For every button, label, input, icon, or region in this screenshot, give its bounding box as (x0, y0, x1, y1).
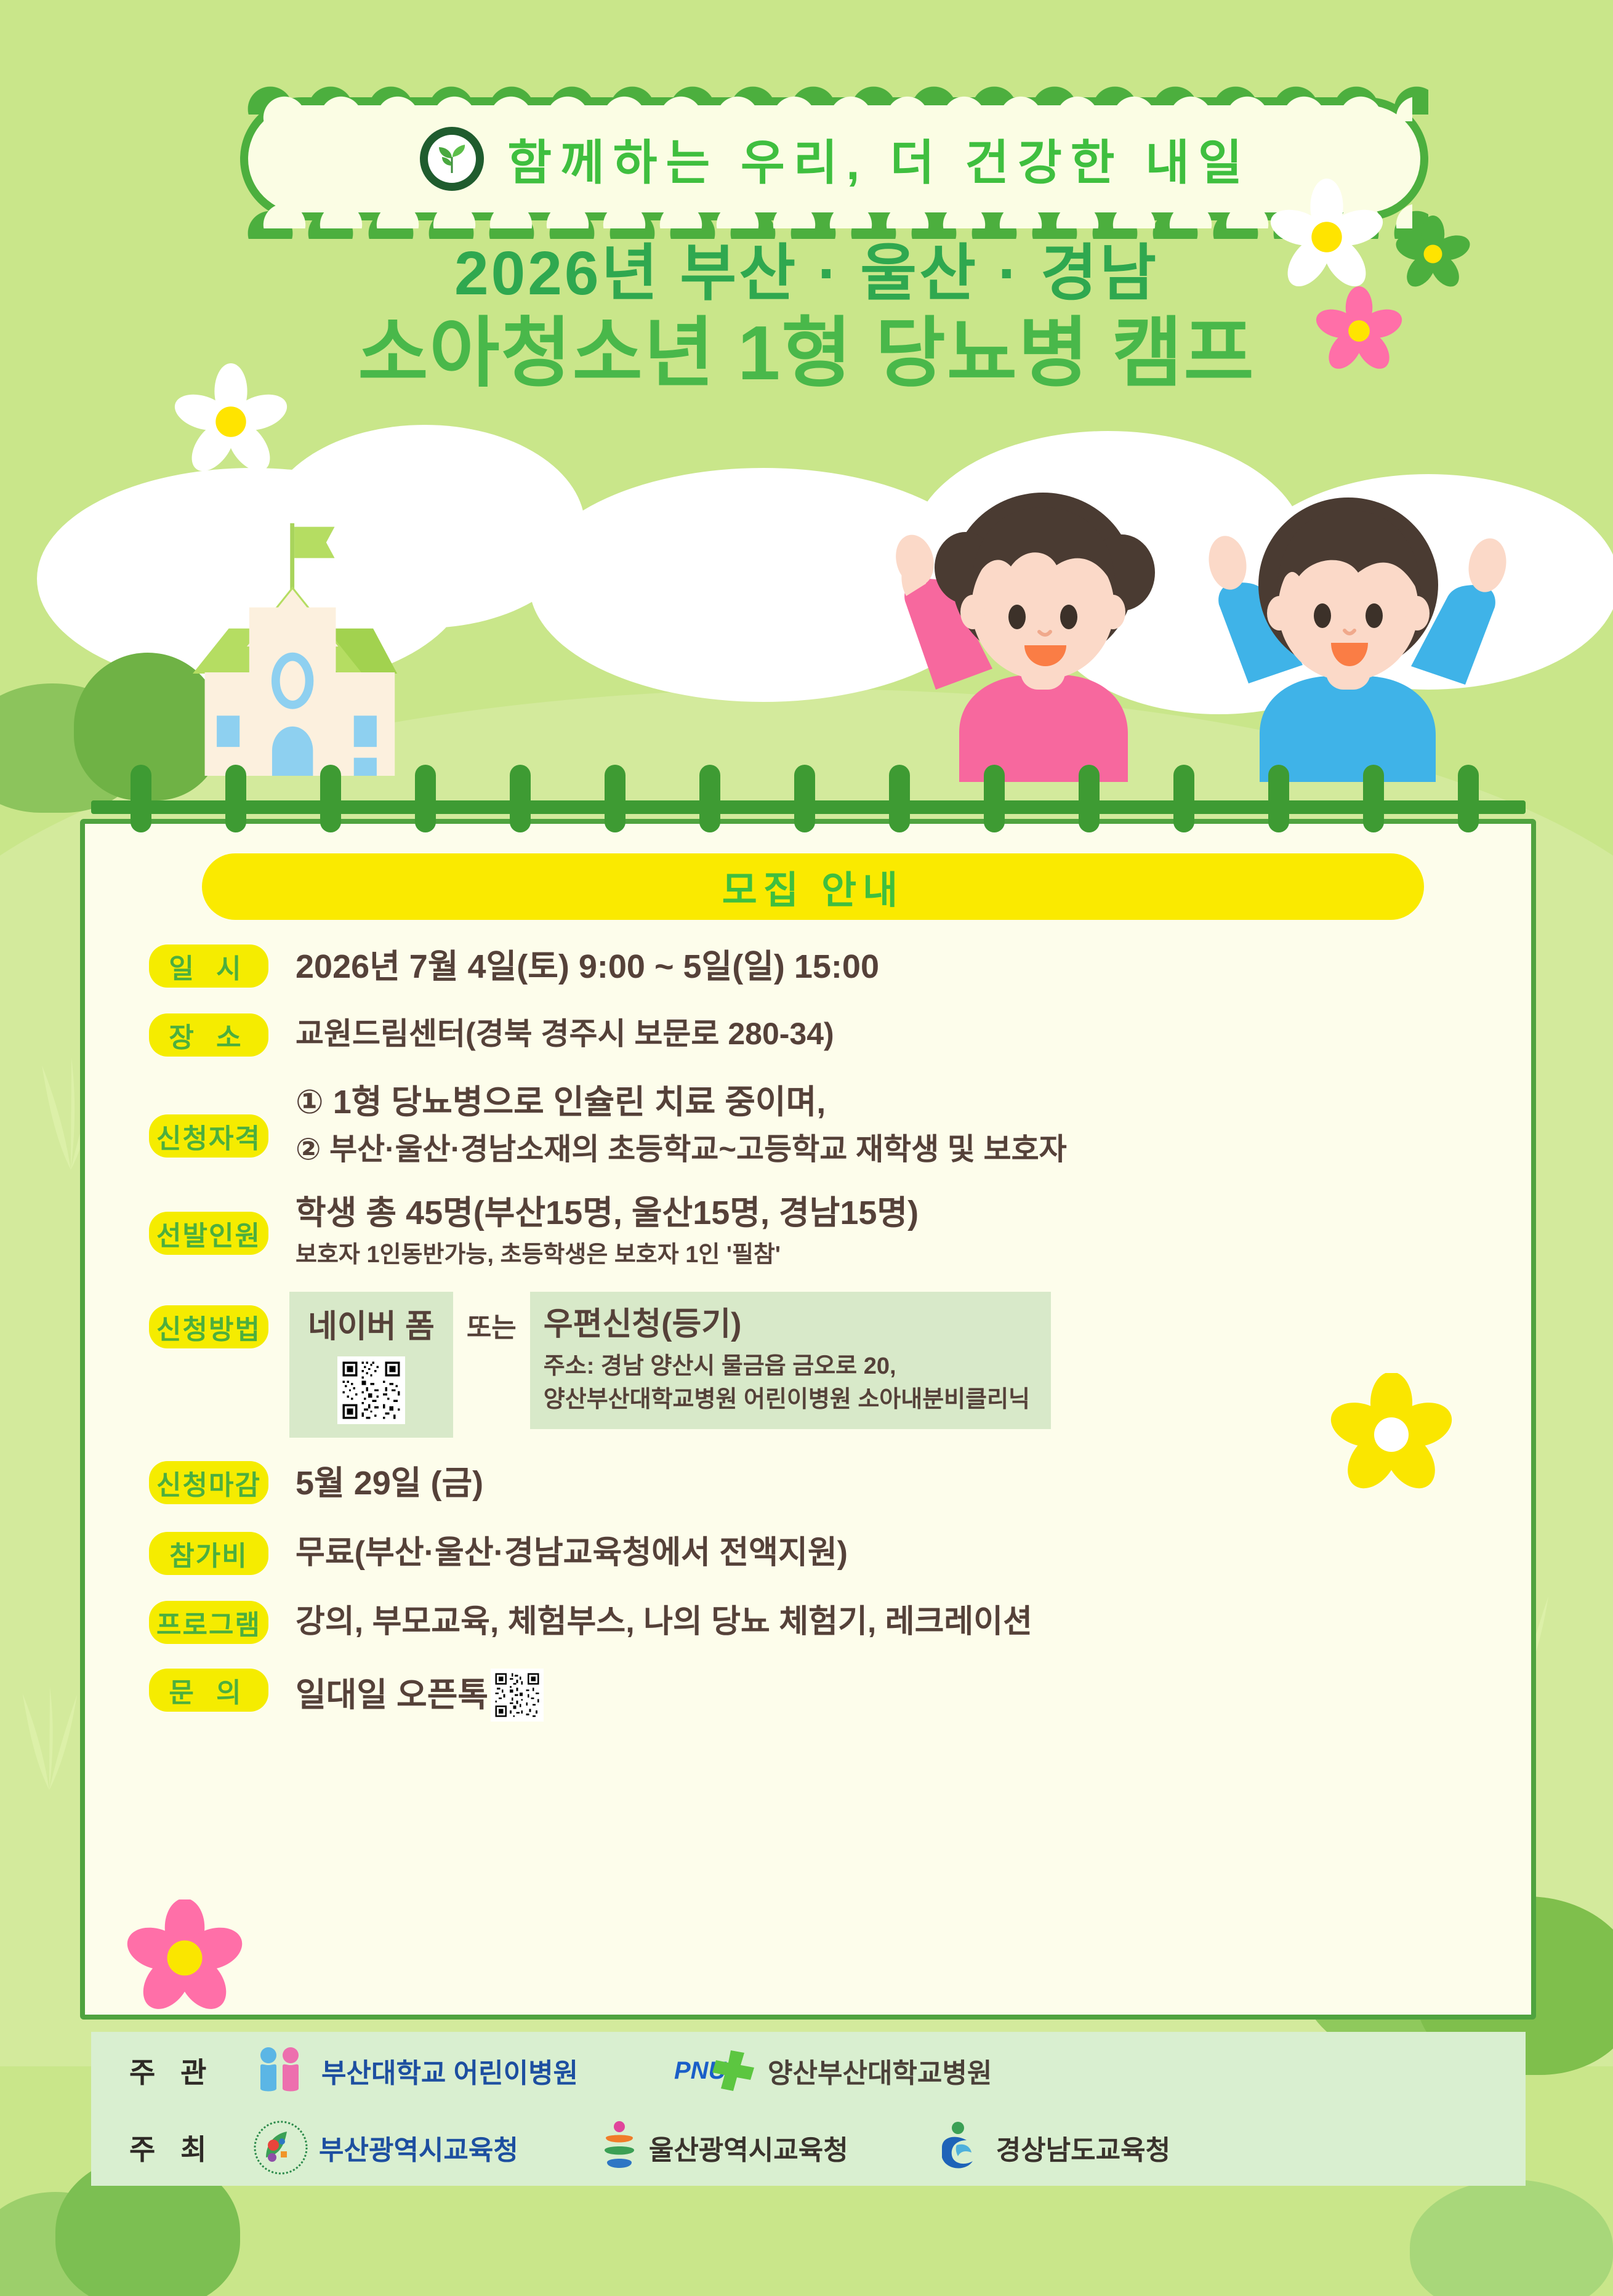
apply-post-heading: 우편신청(등기) (544, 1298, 1030, 1344)
row-body-program: 강의, 부모교육, 체험부스, 나의 당뇨 체험기, 레크레이션 (268, 1601, 1531, 1644)
footer-panel: 주 관 부산대학교 어린이병원 PNU 양산부산대학교병원 주 최 (91, 2032, 1526, 2186)
org-name-pnu-childrens-hospital: 부산대학교 어린이병원 (321, 2051, 578, 2090)
row-label-apply: 신청방법 (149, 1305, 268, 1348)
org-name-ulsan-education-office: 울산광역시교육청 (649, 2128, 848, 2167)
info-row-inquiry: 문 의 일대일 오픈톡 (85, 1669, 1531, 1722)
org-pnu-childrens-hospital: 부산대학교 어린이병원 (252, 2044, 578, 2097)
info-row-apply: 신청방법 네이버 폼 (85, 1292, 1531, 1438)
venue-value: 교원드림센터(경북 경주시 보문로 280-34) (296, 1013, 1531, 1055)
quota-value: 학생 총 45명(부산15명, 울산15명, 경남15명) (296, 1191, 1531, 1235)
flower-yellow-icon (1330, 1373, 1453, 1496)
program-value: 강의, 부모교육, 체험부스, 나의 당뇨 체험기, 레크레이션 (296, 1601, 1531, 1644)
opentalk-qr-code[interactable] (491, 1669, 544, 1722)
banner-inner: 함께하는 우리, 더 건강한 내일 (248, 105, 1420, 212)
info-row-eligibility: 신청자격 ① 1형 당뇨병으로 인슐린 치료 중이며, ② 부산·울산·경남소재… (85, 1080, 1531, 1170)
pnu-childrens-hospital-logo-icon (252, 2044, 312, 2097)
ulsan-education-office-logo-icon (600, 2119, 639, 2176)
waving-children-illustration (850, 486, 1514, 782)
apply-or-label: 또는 (453, 1292, 530, 1345)
org-name-gyeongnam-education-office: 경상남도교육청 (996, 2128, 1170, 2167)
card-heading: 모집 안내 (202, 853, 1424, 920)
org-name-busan-education-office: 부산광역시교육청 (319, 2128, 518, 2167)
grass-tuft-icon (12, 1675, 86, 1792)
fee-value: 무료(부산·울산·경남교육청에서 전액지원) (296, 1532, 1531, 1575)
flower-white-icon (172, 363, 289, 480)
row-label-datetime: 일 시 (149, 945, 268, 988)
row-body-datetime: 2026년 7월 4일(토) 9:00 ~ 5일(일) 15:00 (268, 945, 1531, 989)
row-label-eligibility: 신청자격 (149, 1114, 268, 1158)
poster-root: 함께하는 우리, 더 건강한 내일 (0, 0, 1613, 2296)
info-card: 모집 안내 일 시 2026년 7월 4일(토) 9:00 ~ 5일(일) 15… (80, 819, 1536, 2020)
spiral-ring (131, 765, 151, 832)
row-label-deadline: 신청마감 (149, 1461, 268, 1504)
flower-pink-icon (126, 1899, 243, 2016)
row-body-inquiry: 일대일 오픈톡 (268, 1669, 1531, 1722)
spiral-ring (1268, 765, 1289, 832)
info-row-fee: 참가비 무료(부산·울산·경남교육청에서 전액지원) (85, 1532, 1531, 1575)
notebook-spiral-bar (91, 800, 1526, 814)
org-name-pnuh-yangsan: 양산부산대학교병원 (768, 2051, 992, 2090)
busan-education-office-logo-icon (252, 2119, 309, 2176)
slogan-banner: 함께하는 우리, 더 건강한 내일 (240, 97, 1428, 220)
apply-naver-label: 네이버 폼 (308, 1300, 435, 1347)
quota-note: 보호자 1인동반가능, 초등학생은 보호자 1인 '필참' (296, 1239, 1531, 1271)
spiral-ring (1173, 765, 1194, 832)
row-body-venue: 교원드림센터(경북 경주시 보문로 280-34) (268, 1013, 1531, 1055)
spiral-ring (1363, 765, 1384, 832)
info-rows: 일 시 2026년 7월 4일(토) 9:00 ~ 5일(일) 15:00 장 … (85, 942, 1531, 1722)
spiral-ring (510, 765, 531, 832)
info-row-deadline: 신청마감 5월 29일 (금) (85, 1461, 1531, 1505)
row-body-fee: 무료(부산·울산·경남교육청에서 전액지원) (268, 1532, 1531, 1575)
camp-emblem-icon (417, 124, 486, 193)
org-pnuh-yangsan: PNU 양산부산대학교병원 (672, 2044, 992, 2097)
row-label-inquiry: 문 의 (149, 1669, 268, 1712)
emblem-leaf-icon (435, 142, 469, 175)
apply-post-panel: 우편신청(등기) 주소: 경남 양산시 물금읍 금오로 20, 양산부산대학교병… (530, 1292, 1051, 1429)
info-row-quota: 선발인원 학생 총 45명(부산15명, 울산15명, 경남15명) 보호자 1… (85, 1191, 1531, 1271)
spiral-ring (984, 765, 1005, 832)
info-row-venue: 장 소 교원드림센터(경북 경주시 보문로 280-34) (85, 1013, 1531, 1057)
flower-green-icon (1394, 216, 1471, 292)
row-label-program: 프로그램 (149, 1601, 268, 1644)
inquiry-value: 일대일 오픈톡 (296, 1673, 488, 1717)
footer-organizer-row: 주 최 부산광역시교육청 울산 (91, 2109, 1526, 2186)
footer-organizer-label: 주 최 (129, 2127, 252, 2168)
org-ulsan-education-office: 울산광역시교육청 (600, 2119, 848, 2176)
apply-post-address-line-1: 주소: 경남 양산시 물금읍 금오로 20, (544, 1350, 1030, 1384)
naver-form-qr-code[interactable] (337, 1356, 405, 1424)
spiral-ring (1458, 765, 1479, 832)
info-row-datetime: 일 시 2026년 7월 4일(토) 9:00 ~ 5일(일) 15:00 (85, 945, 1531, 989)
footer-host-row: 주 관 부산대학교 어린이병원 PNU 양산부산대학교병원 (91, 2032, 1526, 2109)
apply-post-address-line-2: 양산부산대학교병원 어린이병원 소아내분비클리닉 (544, 1384, 1030, 1417)
flower-pink-icon (1314, 286, 1404, 376)
org-busan-education-office: 부산광역시교육청 (252, 2119, 518, 2176)
spiral-ring (1079, 765, 1100, 832)
row-label-fee: 참가비 (149, 1532, 268, 1575)
spiral-ring (794, 765, 815, 832)
row-body-quota: 학생 총 45명(부산15명, 울산15명, 경남15명) 보호자 1인동반가능… (268, 1191, 1531, 1271)
datetime-value: 2026년 7월 4일(토) 9:00 ~ 5일(일) 15:00 (296, 945, 1531, 989)
school-building-illustration (111, 517, 431, 776)
eligibility-item-2: ② 부산·울산·경남소재의 초등학교~고등학교 재학생 및 보호자 (296, 1130, 1531, 1170)
pnuh-yangsan-logo-icon: PNU (672, 2044, 758, 2097)
footer-host-label: 주 관 (129, 2050, 252, 2091)
row-body-eligibility: ① 1형 당뇨병으로 인슐린 치료 중이며, ② 부산·울산·경남소재의 초등학… (268, 1080, 1531, 1170)
apply-naver-panel[interactable]: 네이버 폼 (289, 1292, 453, 1438)
spiral-ring (889, 765, 910, 832)
spiral-ring (605, 765, 625, 832)
eligibility-item-1: ① 1형 당뇨병으로 인슐린 치료 중이며, (296, 1080, 1531, 1124)
spiral-ring (699, 765, 720, 832)
spiral-ring (320, 765, 341, 832)
girl-figure (891, 493, 1155, 782)
slogan-text: 함께하는 우리, 더 건강한 내일 (507, 124, 1250, 193)
row-label-venue: 장 소 (149, 1013, 268, 1057)
boy-figure (1205, 497, 1510, 782)
spiral-ring (415, 765, 436, 832)
gyeongnam-education-office-logo-icon (930, 2119, 986, 2176)
spiral-ring (225, 765, 246, 832)
flower-white-icon (1268, 179, 1385, 296)
row-label-quota: 선발인원 (149, 1212, 268, 1255)
info-row-program: 프로그램 강의, 부모교육, 체험부스, 나의 당뇨 체험기, 레크레이션 (85, 1601, 1531, 1644)
org-gyeongnam-education-office: 경상남도교육청 (930, 2119, 1170, 2176)
